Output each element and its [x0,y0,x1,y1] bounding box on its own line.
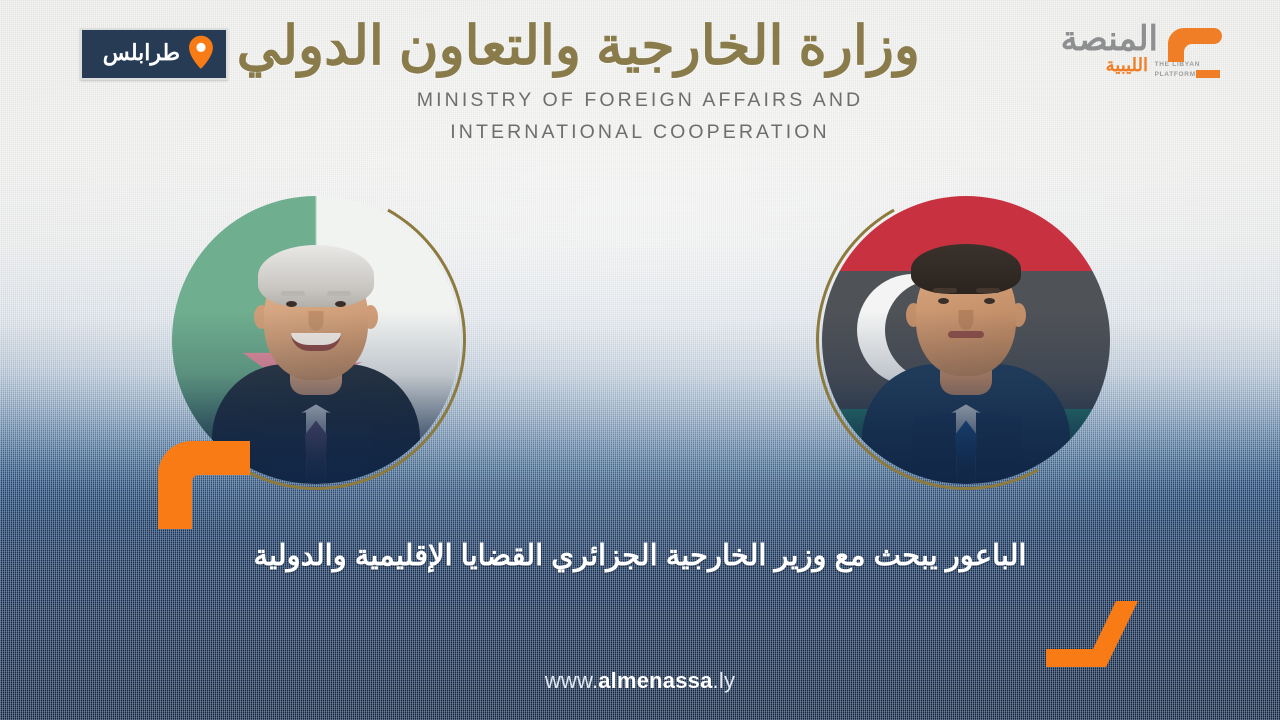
ministry-logo-english-line1: MINISTRY OF FOREIGN AFFAIRS AND [360,87,920,115]
orange-bracket-bottom-right-icon [1046,601,1138,672]
footer-url-prefix: www. [545,668,598,693]
eyebrow-right [327,291,351,296]
footer-url-tld: .ly [713,668,736,693]
eyebrow-left [933,288,957,293]
hair [911,244,1021,294]
portrait-right [822,196,1110,484]
news-graphic-canvas: طرابلس وزارة الخارجية والتعاون الدولي MI… [0,0,1280,720]
brand-logo-arabic-main: المنصة [1061,22,1158,56]
footer-url: www.almenassa.ly [0,668,1280,694]
nose [959,310,974,330]
footer-url-name: almenassa [598,668,712,693]
portrait-right-disc [822,196,1110,484]
brand-logo-arabic-sub: الليبية [1106,56,1148,74]
location-badge: طرابلس [80,28,228,80]
ministry-logo: وزارة الخارجية والتعاون الدولي MINISTRY … [360,10,920,146]
almenassa-monogram-icon [1160,18,1222,82]
hair [258,245,374,307]
orange-bracket-top-left-icon [158,441,250,534]
ministry-logo-english-line2: INTERNATIONAL COOPERATION [360,119,920,147]
ministry-logo-arabic: وزارة الخارجية والتعاون الدولي [360,10,920,83]
eyebrow-right [976,288,1000,293]
nose [309,311,324,331]
location-pin-icon [188,35,214,74]
eyebrow-left [281,291,305,296]
portrait-right-figure [822,196,1110,484]
brand-logo: المنصة الليبية THE LIBYAN PLATFORM [1022,16,1222,90]
headline: الباعور يبحث مع وزير الخارجية الجزائري ا… [0,538,1280,574]
location-badge-label: طرابلس [103,42,180,66]
mouth [948,331,984,338]
